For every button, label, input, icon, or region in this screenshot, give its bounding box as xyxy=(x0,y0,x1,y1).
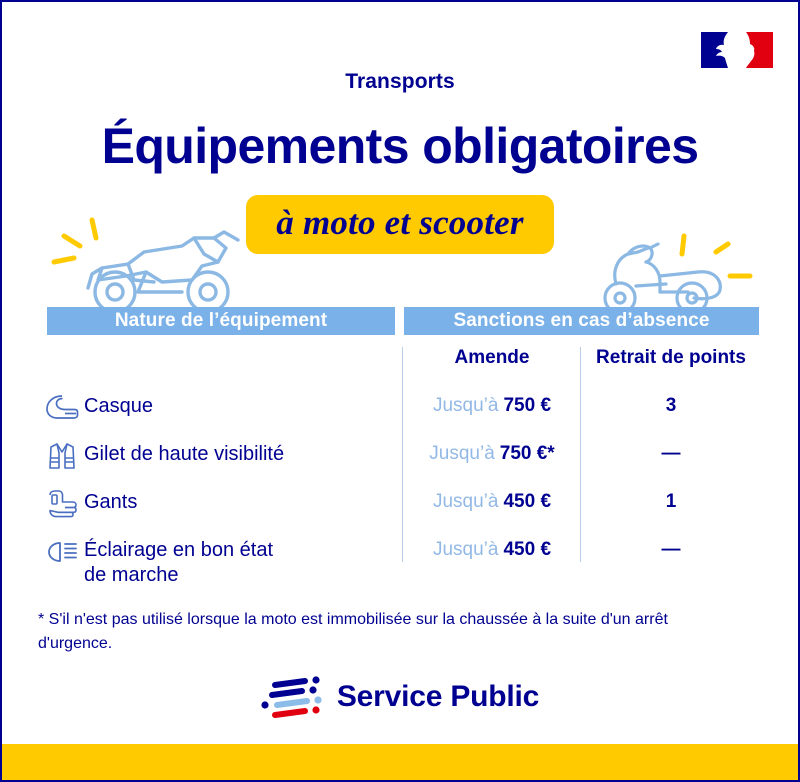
service-public-wordmark: Service Public xyxy=(337,680,539,714)
cell-points: — xyxy=(582,531,760,591)
cell-equipment: Gants xyxy=(40,483,395,531)
cell-equipment: Casque xyxy=(40,387,395,435)
service-public-mark-icon xyxy=(261,674,323,720)
subheader-amende: Amende xyxy=(404,347,580,369)
equipment-label: Éclairage en bon état de marche xyxy=(84,535,273,588)
cell-equipment: Éclairage en bon état de marche xyxy=(40,531,395,591)
column-divider-right xyxy=(580,347,581,562)
fine-prefix: Jusqu’à xyxy=(429,443,495,465)
gloves-icon xyxy=(40,487,84,521)
cell-fine: Jusqu’à 450 € xyxy=(404,531,580,591)
table-row: Casque Jusqu’à 750 € 3 xyxy=(2,387,800,435)
column-divider-left xyxy=(402,347,403,562)
bottom-accent-bar xyxy=(2,744,798,780)
infographic-poster: Transports Équipements obligatoires à mo… xyxy=(0,0,800,782)
fine-prefix: Jusqu’à xyxy=(433,539,499,561)
equipment-label: Gants xyxy=(84,487,137,515)
footnote-text: * S'il n'est pas utilisé lorsque la moto… xyxy=(38,608,738,656)
cell-fine: Jusqu’à 450 € xyxy=(404,483,580,531)
headlight-icon xyxy=(40,535,84,569)
fine-value: 750 €* xyxy=(500,443,555,465)
cell-equipment: Gilet de haute visibilité xyxy=(40,435,395,483)
fine-prefix: Jusqu’à xyxy=(433,395,499,417)
cell-points: — xyxy=(582,435,760,483)
table-row: Gilet de haute visibilité Jusqu’à 750 €*… xyxy=(2,435,800,483)
table-subheader-row: Amende Retrait de points xyxy=(2,347,800,387)
flag-band-white xyxy=(728,32,745,68)
french-flag-icon xyxy=(701,32,773,68)
helmet-icon xyxy=(40,391,84,425)
safety-vest-icon xyxy=(40,439,84,473)
fine-value: 450 € xyxy=(503,539,551,561)
equipment-label: Gilet de haute visibilité xyxy=(84,439,284,467)
header-sanctions: Sanctions en cas d’absence xyxy=(404,307,759,335)
subheader-retrait-points: Retrait de points xyxy=(582,347,760,369)
header-nature-equipement: Nature de l’équipement xyxy=(47,307,395,335)
cell-fine: Jusqu’à 750 € xyxy=(404,387,580,435)
fine-prefix: Jusqu’à xyxy=(433,491,499,513)
table-row: Gants Jusqu’à 450 € 1 xyxy=(2,483,800,531)
motorcycle-illustration xyxy=(42,210,272,320)
fine-value: 450 € xyxy=(503,491,551,513)
cell-points: 3 xyxy=(582,387,760,435)
table-group-header-row: Nature de l’équipement Sanctions en cas … xyxy=(2,307,800,335)
category-kicker: Transports xyxy=(2,70,798,94)
subtitle-badge: à moto et scooter xyxy=(246,195,553,254)
fine-value: 750 € xyxy=(503,395,551,417)
marianne-profile-left xyxy=(714,32,728,68)
equipment-table: Nature de l’équipement Sanctions en cas … xyxy=(2,307,800,591)
table-body: Casque Jusqu’à 750 € 3 xyxy=(2,387,800,591)
service-public-logo: Service Public xyxy=(2,674,798,720)
page-title: Équipements obligatoires xyxy=(2,120,798,173)
cell-points: 1 xyxy=(582,483,760,531)
marianne-profile-right xyxy=(746,32,760,68)
equipment-label: Casque xyxy=(84,391,153,419)
cell-fine: Jusqu’à 750 €* xyxy=(404,435,580,483)
table-row: Éclairage en bon état de marche Jusqu’à … xyxy=(2,531,800,591)
